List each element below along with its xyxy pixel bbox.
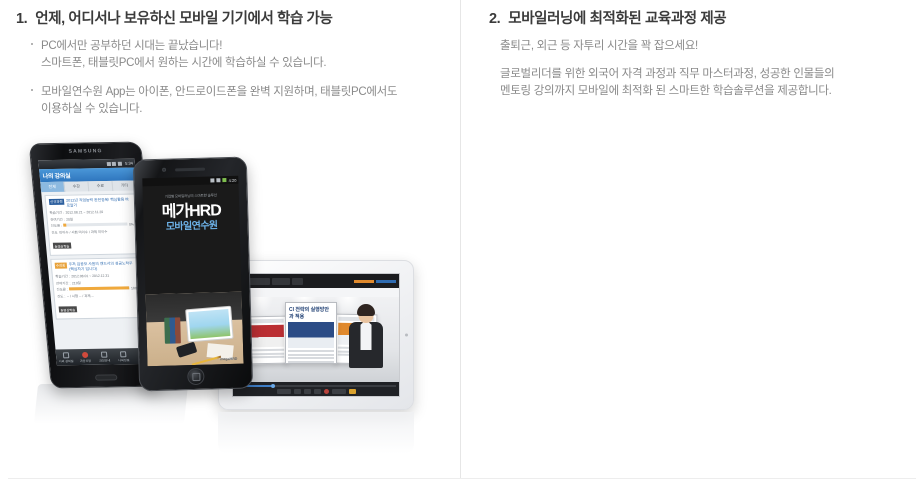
card-2-period-label: 학습기간 : bbox=[55, 273, 70, 278]
right-paragraph-2-line-1: 글로벌리더를 위한 외국어 자격 과정과 직무 마스터과정, 성공한 인물들의 bbox=[500, 66, 910, 83]
galaxy-home-button-icon bbox=[95, 374, 118, 380]
iphone-footer-logo: megaHRD bbox=[220, 357, 237, 361]
left-panel-body: PC에서만 공부하던 시대는 끝났습니다! 스마트폰, 태블릿PC에서 원하는 … bbox=[30, 38, 450, 118]
card-1-remaining-value: 20일 bbox=[66, 216, 73, 221]
iphone-clock: 4:20 bbox=[229, 177, 237, 182]
classroom-icon bbox=[62, 352, 69, 358]
card-2-row-remaining: 잔여기간 : 210일 bbox=[56, 279, 140, 285]
lecture-slide-2: CI 전략의 실행방안과 적용 bbox=[285, 302, 337, 364]
galaxy-brand-label: SAMSUNG bbox=[30, 148, 141, 156]
wifi-icon bbox=[112, 161, 116, 165]
card-1-row-progress: 진도율 : 0% bbox=[50, 221, 134, 227]
left-bullet-1-line-2: 스마트폰, 태블릿PC에서 원하는 시간에 학습하실 수 있습니다. bbox=[41, 55, 450, 72]
galaxy-tab-2[interactable]: 수료 bbox=[88, 181, 113, 191]
galaxy-tab-0[interactable]: 전체 bbox=[40, 182, 65, 192]
photo-pencil bbox=[192, 356, 221, 366]
iphone-splash-photo: megaHRD bbox=[146, 292, 244, 367]
left-heading-text: 언제, 어디서나 보유하신 모바일 기기에서 학습 가능 bbox=[35, 7, 332, 28]
galaxy-tab-1[interactable]: 수강 bbox=[64, 181, 89, 191]
galaxy-nav-label-2: 과정안내 bbox=[99, 358, 110, 362]
left-bullet-1-line-1: PC에서만 공부하던 시대는 끝났습니다! bbox=[41, 38, 450, 55]
galaxy-nav-item-0[interactable]: 나의 강의실 bbox=[55, 349, 76, 365]
card-2-remaining-label: 잔여기간 : bbox=[56, 280, 71, 285]
card-1-title-line-1: 2012년 직업능력 완전정복! bbox=[66, 197, 110, 202]
galaxy-nav-label-3: 나의정보 bbox=[118, 358, 129, 362]
card-1-progress-value: 0% bbox=[129, 222, 134, 226]
left-bullet-2-line-1: 모바일연수원 App는 아이폰, 안드로이드폰을 완벽 지원하며, 태블릿PC에… bbox=[41, 84, 450, 101]
right-paragraph-2-line-2: 멘토링 강의까지 모바일에 최적화 된 스마트한 학습솔루션을 제공합니다. bbox=[500, 83, 910, 100]
right-paragraph-2: 글로벌리더를 위한 외국어 자격 과정과 직무 마스터과정, 성공한 인물들의 … bbox=[500, 66, 910, 100]
card-1-tag: 신규과정 bbox=[48, 198, 64, 204]
iphone-camera-icon bbox=[162, 168, 166, 172]
tablet-screen: 목차 CI 전략의 실행방안과 적용 bbox=[232, 273, 400, 397]
card-2-progress-label: 진도율 : bbox=[56, 286, 68, 291]
profile-icon bbox=[120, 351, 127, 357]
galaxy-nav-label-0: 나의 강의실 bbox=[59, 359, 74, 363]
tablet-camera-icon bbox=[405, 334, 408, 337]
left-bullet-2-line-2: 이용하실 수 있습니다. bbox=[41, 101, 450, 118]
player-controls bbox=[233, 382, 399, 396]
player-progress-bar-orange bbox=[354, 280, 374, 283]
player-button-group[interactable] bbox=[233, 389, 399, 394]
card-2-row-status: 진도 : -- / 시험 -- / 과제 -- bbox=[57, 292, 141, 298]
galaxy-tab-bar[interactable]: 전체 수강 수료 기타 bbox=[40, 181, 137, 193]
right-heading-text: 모바일러닝에 최적화된 교육과정 제공 bbox=[508, 7, 726, 28]
devices-photo: 목차 CI 전략의 실행방안과 적용 bbox=[18, 132, 448, 452]
player-toolbar bbox=[233, 274, 399, 288]
card-1-progress-label: 진도율 : bbox=[50, 223, 62, 228]
card-1-status-value: 미이수 / 시험 미이수 / 과제 미이수 bbox=[59, 228, 108, 234]
iphone-signal-icon bbox=[217, 178, 221, 182]
iphone-wifi-icon bbox=[211, 178, 215, 182]
card-2-row-period: 학습기간 : 2012.08.01 ~ 2012.12.31 bbox=[55, 272, 139, 278]
tablet-reflection bbox=[218, 412, 414, 454]
galaxy-nav-label-1: 과정신청 bbox=[80, 358, 91, 362]
iphone-battery-icon bbox=[223, 178, 227, 182]
iphone-home-button-icon[interactable] bbox=[187, 368, 204, 385]
photo-phone bbox=[176, 342, 197, 358]
card-2-row-progress: 진도율 : 100% bbox=[56, 285, 140, 291]
iphone-brand-subtitle: 모바일연수원 bbox=[144, 220, 240, 235]
card-2-action-button[interactable]: 동영상학습 bbox=[58, 306, 77, 313]
card-2-status-value: -- / 시험 -- / 과제 -- bbox=[67, 292, 94, 297]
card-1-period-value: 2012.08.21 ~ 2012.11.20 bbox=[65, 210, 103, 215]
player-extra-field bbox=[292, 278, 303, 285]
lecture-slide-1 bbox=[247, 316, 288, 365]
card-2-period-value: 2012.08.01 ~ 2012.12.31 bbox=[71, 273, 109, 278]
iphone-speaker-icon bbox=[175, 168, 205, 172]
player-progress-bar-blue bbox=[376, 280, 396, 283]
card-1-row-period: 학습기간 : 2012.08.21 ~ 2012.11.20 bbox=[49, 209, 133, 215]
photo-books bbox=[164, 317, 181, 343]
card-2-status-label: 진도 : bbox=[57, 293, 66, 298]
iphone-kicker: 기업형 모바일러닝의 스마트한 솔루션 bbox=[143, 193, 239, 201]
left-heading-number: 1. bbox=[16, 11, 27, 27]
card-2-progress-bar bbox=[69, 286, 129, 290]
iphone-splash: 기업형 모바일러닝의 스마트한 솔루션 메가HRD 모바일연수원 bbox=[143, 184, 240, 235]
card-1-row-status: 진도 미이수 / 시험 미이수 / 과제 미이수 bbox=[51, 228, 135, 234]
instructor-figure bbox=[349, 306, 383, 368]
battery-icon bbox=[117, 161, 121, 165]
left-bullet-1: PC에서만 공부하던 시대는 끝났습니다! 스마트폰, 태블릿PC에서 원하는 … bbox=[30, 38, 450, 72]
right-paragraph-1-line-1: 출퇴근, 외근 등 자투리 시간을 꽉 잡으세요! bbox=[500, 38, 910, 55]
card-2-tag: 수강중 bbox=[54, 262, 67, 268]
apply-icon bbox=[82, 351, 89, 357]
card-1-period-label: 학습기간 : bbox=[49, 210, 64, 215]
galaxy-nav-item-1[interactable]: 과정신청 bbox=[75, 349, 96, 365]
card-1-progress-bar bbox=[63, 223, 127, 227]
page-root: 1. 언제, 어디서나 보유하신 모바일 기기에서 학습 가능 PC에서만 공부… bbox=[0, 0, 924, 486]
player-stage: CI 전략의 실행방안과 적용 bbox=[233, 297, 399, 382]
photo-tablet bbox=[185, 306, 233, 343]
left-bullet-2: 모바일연수원 App는 아이폰, 안드로이드폰을 완벽 지원하며, 태블릿PC에… bbox=[30, 84, 450, 118]
player-meta-field bbox=[272, 278, 290, 285]
card-2-title-line-1: 주저 김공모 사원의 엔드서의 bbox=[68, 261, 114, 266]
device-phone-iphone: 4:20 기업형 모바일러닝의 스마트한 솔루션 메가HRD 모바일연수원 bbox=[133, 156, 253, 391]
galaxy-clock: 5:34 bbox=[125, 161, 133, 166]
iphone-screen: 4:20 기업형 모바일러닝의 스마트한 솔루션 메가HRD 모바일연수원 bbox=[142, 176, 243, 367]
right-heading-number: 2. bbox=[489, 11, 500, 27]
galaxy-nav-item-2[interactable]: 과정안내 bbox=[94, 348, 115, 364]
right-panel-heading: 2. 모바일러닝에 최적화된 교육과정 제공 bbox=[489, 7, 726, 28]
lecture-slide-2-title: CI 전략의 실행방안과 적용 bbox=[289, 306, 333, 320]
galaxy-course-card-2[interactable]: 수강중 주저 김공모 사원의 엔드서의 성공노하우 (핵심자기 입니다) 학습기… bbox=[50, 257, 146, 319]
player-progress-group bbox=[354, 280, 396, 283]
right-panel-body: 출퇴근, 외근 등 자투리 시간을 꽉 잡으세요! 글로벌리더를 위한 외국어 … bbox=[500, 38, 910, 100]
player-seek-bar[interactable] bbox=[236, 385, 396, 387]
left-panel-heading: 1. 언제, 어디서나 보유하신 모바일 기기에서 학습 가능 bbox=[16, 7, 332, 28]
card-1-row-remaining: 잔여기간 : 20일 bbox=[50, 215, 134, 221]
card-2-remaining-value: 210일 bbox=[72, 280, 81, 285]
galaxy-nav-item-3[interactable]: 나의정보 bbox=[113, 348, 134, 364]
panel-left: 1. 언제, 어디서나 보유하신 모바일 기기에서 학습 가능 PC에서만 공부… bbox=[0, 0, 460, 486]
card-1-status-label: 진도 bbox=[51, 229, 58, 234]
card-1-action-button[interactable]: 동영상학습 bbox=[52, 242, 71, 249]
player-index-bar: 목차 bbox=[233, 288, 399, 297]
panel-right: 2. 모바일러닝에 최적화된 교육과정 제공 출퇴근, 외근 등 자투리 시간을… bbox=[461, 0, 924, 486]
signal-icon bbox=[106, 162, 110, 166]
galaxy-course-card-1[interactable]: 신규과정 2012년 직업능력 완전정복! 핵심활용 바로알기 학습기간 : 2… bbox=[44, 194, 140, 256]
right-paragraph-1: 출퇴근, 외근 등 자투리 시간을 꽉 잡으세요! bbox=[500, 38, 910, 55]
card-1-remaining-label: 잔여기간 : bbox=[50, 216, 65, 221]
guide-icon bbox=[101, 351, 108, 357]
